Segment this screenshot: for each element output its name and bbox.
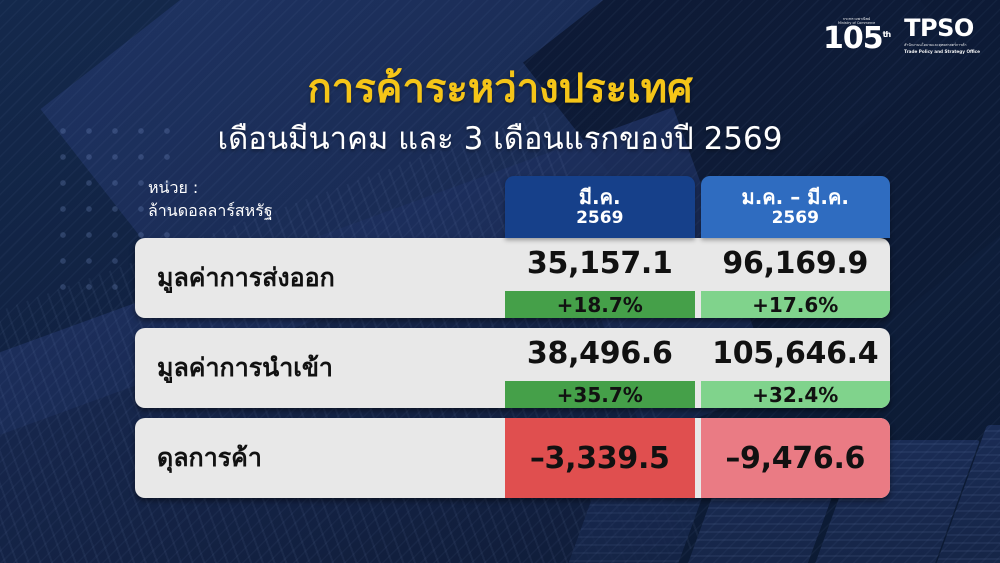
tpso-subtitle-en: Trade Policy and Strategy Office [904, 49, 980, 54]
logo-group: กระทรวงพาณิชย์ Ministry of Commerce 105t… [823, 16, 980, 54]
cell-value: 35,157.1 [505, 238, 695, 291]
cell-value: –3,339.5 [505, 418, 695, 498]
data-cell: 35,157.1+18.7% [505, 238, 695, 318]
cell-percent-change: +18.7% [505, 291, 695, 318]
cell-value: 105,646.4 [701, 328, 891, 381]
row-cells: 35,157.1+18.7%96,169.9+17.6% [505, 238, 890, 318]
table-row: ดุลการค้า–3,339.5–9,476.6 [135, 418, 890, 498]
data-cell: 105,646.4+32.4% [701, 328, 891, 408]
anniversary-ordinal: th [883, 30, 891, 39]
column-header-month: มี.ค. [579, 186, 621, 208]
table-header-row: มี.ค.2569ม.ค. – มี.ค.2569 [505, 176, 890, 238]
trade-summary-table: มี.ค.2569ม.ค. – มี.ค.2569 มูลค่าการส่งออ… [135, 176, 890, 498]
cell-percent-change: +35.7% [505, 381, 695, 408]
row-cells: 38,496.6+35.7%105,646.4+32.4% [505, 328, 890, 408]
anniversary-number: 105th [823, 25, 890, 54]
row-cells: –3,339.5–9,476.6 [505, 418, 890, 498]
row-label: ดุลการค้า [135, 418, 505, 498]
table-row: มูลค่าการส่งออก35,157.1+18.7%96,169.9+17… [135, 238, 890, 318]
data-cell: 38,496.6+35.7% [505, 328, 695, 408]
ministry-anniversary-logo: กระทรวงพาณิชย์ Ministry of Commerce 105t… [823, 17, 890, 54]
tpso-subtitle-th: สำนักงานนโยบายและยุทธศาสตร์การค้า [904, 42, 966, 48]
table-column-header-1: ม.ค. – มี.ค.2569 [701, 176, 891, 238]
tpso-wordmark: TPSO [904, 16, 974, 40]
cell-percent-change: +17.6% [701, 291, 891, 318]
column-header-year: 2569 [772, 209, 819, 228]
cell-value: 96,169.9 [701, 238, 891, 291]
table-column-header-0: มี.ค.2569 [505, 176, 695, 238]
cell-percent-change: +32.4% [701, 381, 891, 408]
data-cell: 96,169.9+17.6% [701, 238, 891, 318]
row-label: มูลค่าการส่งออก [135, 238, 505, 318]
page-title: การค้าระหว่างประเทศ [0, 56, 1000, 120]
column-header-year: 2569 [576, 209, 623, 228]
page-subtitle: เดือนมีนาคม และ 3 เดือนแรกของปี 2569 [0, 113, 1000, 163]
anniversary-number-value: 105 [823, 21, 883, 56]
row-label: มูลค่าการนำเข้า [135, 328, 505, 408]
table-row: มูลค่าการนำเข้า38,496.6+35.7%105,646.4+3… [135, 328, 890, 408]
data-cell: –3,339.5 [505, 418, 695, 498]
column-header-month: ม.ค. – มี.ค. [742, 186, 849, 208]
cell-value: –9,476.6 [701, 418, 891, 498]
tpso-logo: TPSO สำนักงานนโยบายและยุทธศาสตร์การค้า T… [904, 16, 980, 54]
table-body: มูลค่าการส่งออก35,157.1+18.7%96,169.9+17… [135, 238, 890, 498]
cell-value: 38,496.6 [505, 328, 695, 381]
data-cell: –9,476.6 [701, 418, 891, 498]
